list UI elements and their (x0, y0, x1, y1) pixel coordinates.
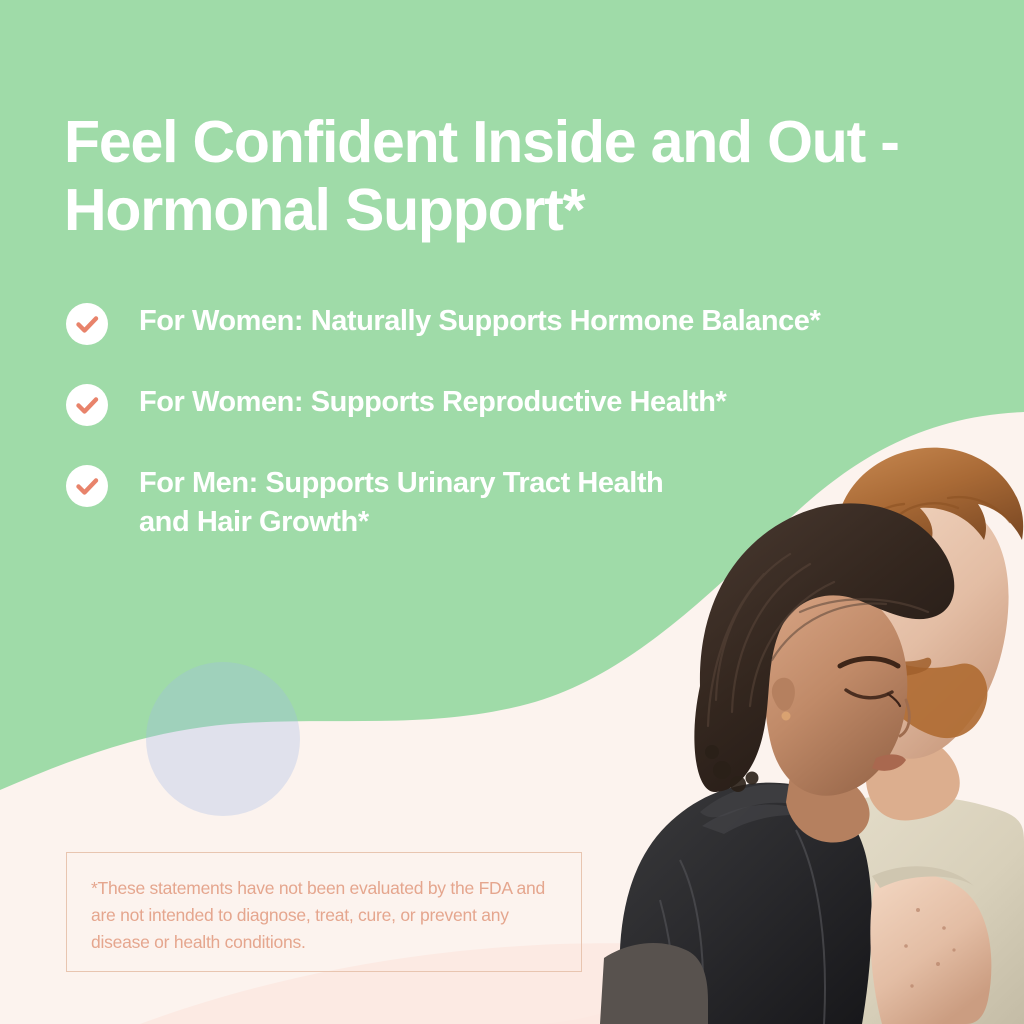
check-circle-icon (66, 465, 108, 507)
list-item-label: For Women: Supports Reproductive Health* (139, 382, 726, 422)
woman-earring (782, 712, 791, 721)
dark-strap-shape (600, 943, 708, 1024)
list-item: For Women: Naturally Supports Hormone Ba… (66, 301, 996, 345)
list-item-label: For Women: Naturally Supports Hormone Ba… (139, 301, 820, 341)
fda-disclaimer-box: *These statements have not been evaluate… (66, 852, 582, 972)
list-item-label: For Men: Supports Urinary Tract Health a… (139, 463, 663, 541)
check-circle-icon (66, 384, 108, 426)
check-circle-icon (66, 303, 108, 345)
benefit-list: For Women: Naturally Supports Hormone Ba… (66, 301, 996, 578)
fda-disclaimer-text: *These statements have not been evaluate… (91, 875, 557, 956)
page-title: Feel Confident Inside and Out - Hormonal… (64, 108, 924, 245)
promo-graphic: Feel Confident Inside and Out - Hormonal… (0, 0, 1024, 1024)
list-item: For Men: Supports Urinary Tract Health a… (66, 463, 996, 541)
list-item: For Women: Supports Reproductive Health* (66, 382, 996, 426)
